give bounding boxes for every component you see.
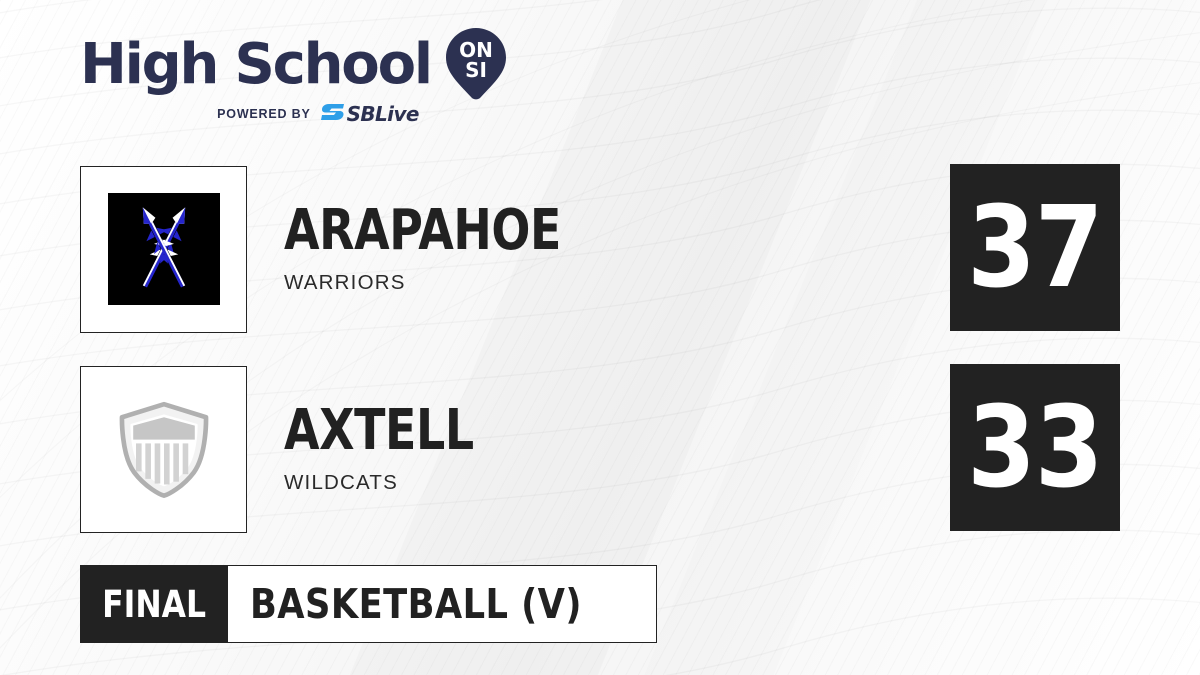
sport-label: BASKETBALL (V) <box>250 580 582 628</box>
scoreboard-graphic: High School ON SI POWERED BY SBLive <box>0 0 1200 675</box>
game-status-bar: FINAL BASKETBALL (V) <box>80 565 657 643</box>
team-logo-box <box>80 166 247 333</box>
team-mascot: WARRIORS <box>284 271 622 295</box>
crossed-spears-icon <box>108 193 220 305</box>
team-score-box: 33 <box>950 364 1120 531</box>
team-score: 33 <box>967 392 1102 504</box>
pin-text-si: SI <box>465 58 487 82</box>
powered-by-label: POWERED BY <box>217 107 310 121</box>
onsi-pin-icon: ON SI <box>443 26 509 102</box>
page-title: High School <box>80 37 431 93</box>
team-name: AXTELL <box>284 403 474 459</box>
team-text-block: AXTELL WILDCATS <box>284 403 515 495</box>
brand-logo-row: High School ON SI <box>80 34 520 96</box>
team-logo-box <box>80 366 247 533</box>
sblive-wordmark: SBLive <box>347 104 419 124</box>
team-text-block: ARAPAHOE WARRIORS <box>284 203 622 295</box>
team-name: ARAPAHOE <box>284 203 561 259</box>
team-score: 37 <box>967 192 1102 304</box>
team-score-box: 37 <box>950 164 1120 331</box>
sport-label-box: BASKETBALL (V) <box>228 565 657 643</box>
status-badge: FINAL <box>80 565 228 643</box>
status-badge-label: FINAL <box>102 583 206 626</box>
powered-by-row: POWERED BY SBLive <box>116 105 520 123</box>
shield-placeholder-icon <box>108 393 220 505</box>
team-mascot: WILDCATS <box>284 471 515 495</box>
brand-logo: High School ON SI POWERED BY SBLive <box>80 34 520 123</box>
sblive-mark-icon <box>320 102 346 127</box>
